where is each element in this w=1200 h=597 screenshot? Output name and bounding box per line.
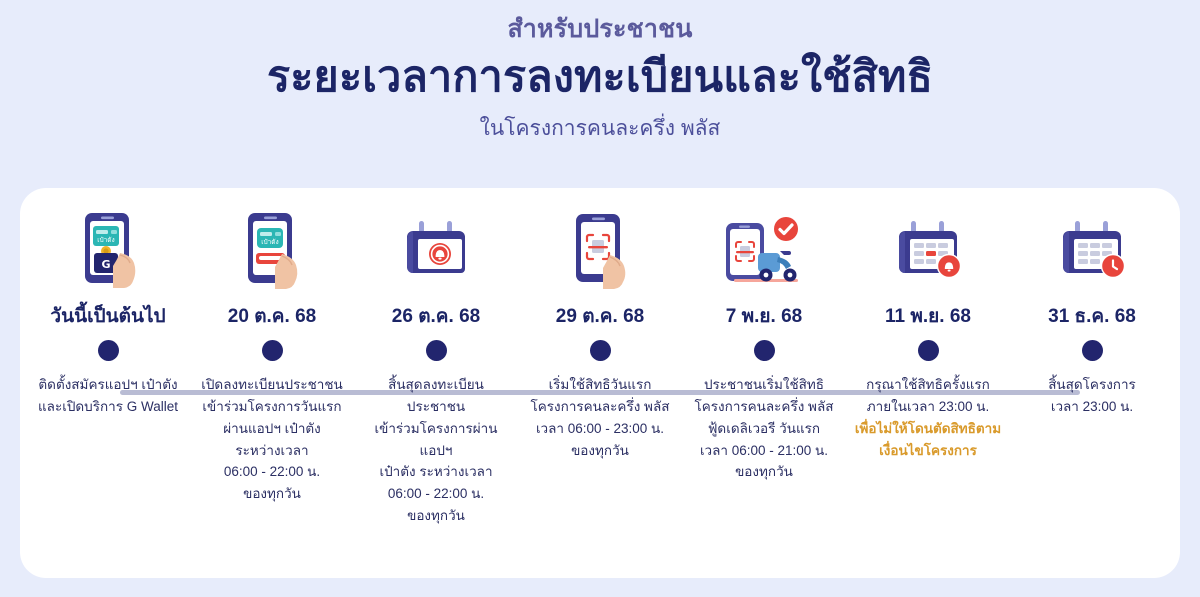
timeline-step: 7 พ.ย. 68 ประชาชนเริ่มใช้สิทธิ โครงการคน… [682, 188, 846, 483]
step-description: เริ่มใช้สิทธิวันแรก โครงการคนละครึ่ง พลั… [525, 374, 676, 461]
step-dot-wrap [754, 334, 775, 366]
timeline-dot[interactable] [754, 340, 775, 361]
timeline-dot[interactable] [1082, 340, 1103, 361]
timeline-dot[interactable] [262, 340, 283, 361]
timeline-dot[interactable] [918, 340, 939, 361]
timeline-step: เป๋าตัง 20 ต.ค. 68 เปิดลงทะเบียนประชาชน … [190, 188, 354, 505]
step-warning-text: เพื่อไม่ให้โดนตัดสิทธิตาม เงื่อนไขโครงกา… [855, 421, 1001, 458]
step-date: 11 พ.ย. 68 [885, 300, 971, 334]
eyebrow-text: สำหรับประชาชน [0, 14, 1200, 45]
step-description: สิ้นสุดลงทะเบียนประชาชน เข้าร่วมโครงการผ… [354, 374, 518, 527]
step-description-text: กรุณาใช้สิทธิครั้งแรก ภายในเวลา 23:00 น. [866, 377, 990, 414]
step-date: วันนี้เป็นต้นไป [50, 300, 165, 334]
step-description: ประชาชนเริ่มใช้สิทธิ โครงการคนละครึ่ง พล… [689, 374, 840, 483]
phone-register-hand-icon: เป๋าตัง [190, 188, 354, 300]
timeline-steps: เป๋าตัง G วันนี้เป็นต้นไป ติดตั้ [20, 188, 1180, 578]
page-subtitle: ในโครงการคนละครึ่ง พลัส [0, 115, 1200, 142]
page-title: ระยะเวลาการลงทะเบียนและใช้สิทธิ [0, 51, 1200, 105]
calendar-alarm-icon [354, 188, 518, 300]
step-dot-wrap [426, 334, 447, 366]
step-date: 7 พ.ย. 68 [726, 300, 802, 334]
infographic-page: สำหรับประชาชน ระยะเวลาการลงทะเบียนและใช้… [0, 0, 1200, 597]
timeline-dot[interactable] [590, 340, 611, 361]
step-date: 26 ต.ค. 68 [392, 300, 480, 334]
timeline-step: เป๋าตัง G วันนี้เป็นต้นไป ติดตั้ [26, 188, 190, 418]
phone-qr-scooter-delivery-icon [682, 188, 846, 300]
timeline-step: 11 พ.ย. 68 กรุณาใช้สิทธิครั้งแรก ภายในเว… [846, 188, 1010, 461]
step-dot-wrap [1082, 334, 1103, 366]
step-date: 29 ต.ค. 68 [556, 300, 644, 334]
step-date: 31 ธ.ค. 68 [1048, 300, 1136, 334]
svg-text:เป๋าตัง: เป๋าตัง [97, 236, 114, 244]
phone-qr-scan-hand-icon [518, 188, 682, 300]
page-header: สำหรับประชาชน ระยะเวลาการลงทะเบียนและใช้… [0, 0, 1200, 142]
step-dot-wrap [590, 334, 611, 366]
timeline-card: เป๋าตัง G วันนี้เป็นต้นไป ติดตั้ [20, 188, 1180, 578]
calendar-bell-icon [846, 188, 1010, 300]
timeline-step: 29 ต.ค. 68 เริ่มใช้สิทธิวันแรก โครงการคน… [518, 188, 682, 461]
svg-text:เป๋าตัง: เป๋าตัง [261, 238, 278, 246]
timeline-step: 26 ต.ค. 68 สิ้นสุดลงทะเบียนประชาชน เข้าร… [354, 188, 518, 527]
timeline: เป๋าตัง G วันนี้เป็นต้นไป ติดตั้ [20, 188, 1180, 578]
calendar-clock-icon [1010, 188, 1174, 300]
timeline-dot[interactable] [426, 340, 447, 361]
step-description: กรุณาใช้สิทธิครั้งแรก ภายในเวลา 23:00 น.… [849, 374, 1007, 461]
step-dot-wrap [918, 334, 939, 366]
timeline-step: 31 ธ.ค. 68 สิ้นสุดโครงการ เวลา 23:00 น. [1010, 188, 1174, 418]
svg-text:G: G [101, 258, 110, 271]
step-dot-wrap [262, 334, 283, 366]
phone-wallet-hand-icon: เป๋าตัง G [26, 188, 190, 300]
timeline-dot[interactable] [98, 340, 119, 361]
step-date: 20 ต.ค. 68 [228, 300, 316, 334]
step-dot-wrap [98, 334, 119, 366]
step-description: สิ้นสุดโครงการ เวลา 23:00 น. [1042, 374, 1142, 418]
step-description: ติดตั้งสมัครแอปฯ เป๋าตัง และเปิดบริการ G… [32, 374, 184, 418]
step-description: เปิดลงทะเบียนประชาชน เข้าร่วมโครงการวันแ… [195, 374, 349, 505]
